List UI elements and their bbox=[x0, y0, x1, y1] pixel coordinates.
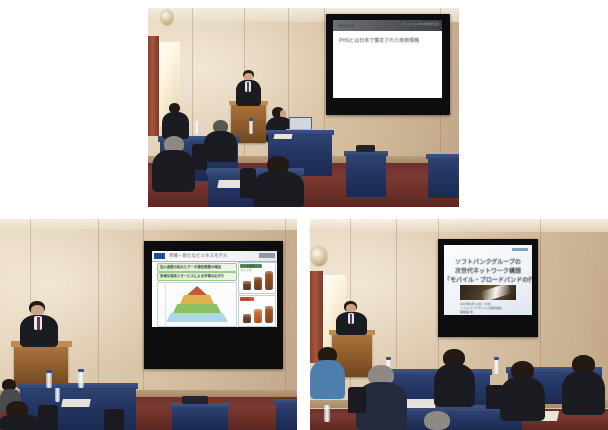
attendee-torso bbox=[500, 377, 545, 421]
cylinder-bar bbox=[254, 277, 262, 290]
room-scene-top: PHSとは ウィルコム PHS技術研究会 PHSとは日本で策定された技術規格 bbox=[148, 8, 459, 207]
slide-logo bbox=[154, 253, 165, 259]
water-bottle bbox=[494, 359, 499, 374]
pyramid-level-1 bbox=[187, 286, 207, 295]
podium bbox=[14, 345, 68, 387]
slide-photo-image bbox=[460, 285, 516, 300]
water-bottle bbox=[55, 388, 60, 402]
bottle-cap bbox=[386, 357, 391, 360]
slide-body-line: PHSとは日本で策定された技術規格 bbox=[339, 37, 419, 44]
cylinder-bar bbox=[254, 309, 262, 323]
slide-title-line-3: 「モバイル・ブロードバンドの行方」 bbox=[444, 275, 532, 284]
slide-corner-tag bbox=[259, 253, 275, 258]
handout-paper bbox=[273, 134, 292, 139]
photo-collage: PHSとは ウィルコム PHS技術研究会 PHSとは日本で策定された技術規格 bbox=[0, 0, 608, 430]
bottle-cap bbox=[494, 357, 499, 360]
slide-bullet-text: 加入者数の拡大とデータ通信需要の増加 bbox=[160, 264, 221, 269]
slide-bullet-text: 多様な端末とサービスによる市場の広がり bbox=[160, 273, 224, 278]
projector-table-skirt bbox=[346, 155, 386, 197]
slide-title-line-1: ソフトバンクグループの bbox=[444, 257, 532, 266]
speaker-at-podium bbox=[336, 301, 370, 335]
attendee bbox=[253, 156, 305, 207]
chair-back bbox=[240, 168, 256, 198]
attendee bbox=[434, 349, 476, 407]
bottom-left-photo-speaker-with-pyramid-slide: 市場・新たなビジネスモデル 加入者数の拡大とデータ通信需要の増加 多様な端末とサ… bbox=[0, 219, 297, 430]
speaker-at-podium bbox=[232, 70, 264, 106]
bottle-cap bbox=[78, 369, 84, 372]
slide-title-line-2: 次世代ネットワーク構想 bbox=[444, 266, 532, 275]
attendee bbox=[310, 347, 346, 399]
cylinder-chart-upper: データ通信トラフィック bbox=[238, 262, 276, 294]
cylinder-bar bbox=[243, 281, 251, 290]
attendee bbox=[414, 411, 462, 430]
slide-photo-streak bbox=[481, 283, 511, 302]
room-scene-bottom-right: ソフトバンクグループの 次世代ネットワーク構想 「モバイル・ブロードバンドの行方… bbox=[310, 219, 608, 430]
slide-brand-mark bbox=[512, 248, 528, 251]
projection-screen-surface: ソフトバンクグループの 次世代ネットワーク構想 「モバイル・ブロードバンドの行方… bbox=[444, 245, 532, 315]
slide-header-label: PHSとは bbox=[338, 23, 354, 29]
curtain bbox=[148, 36, 159, 136]
side-table-skirt bbox=[276, 403, 297, 430]
projection-screen-surface: PHSとは ウィルコム PHS技術研究会 PHSとは日本で策定された技術規格 bbox=[333, 20, 442, 98]
pyramid-level-3 bbox=[173, 304, 221, 313]
bottom-right-photo-title-slide-and-audience: ソフトバンクグループの 次世代ネットワーク構想 「モバイル・ブロードバンドの行方… bbox=[310, 219, 608, 430]
projector-table-skirt bbox=[172, 407, 228, 430]
attendee bbox=[162, 103, 190, 139]
cylinder-bar bbox=[265, 306, 273, 323]
water-bottle bbox=[324, 405, 330, 422]
chair-back bbox=[38, 405, 58, 430]
attendee-torso bbox=[253, 171, 304, 207]
water-bottle bbox=[195, 121, 199, 134]
slide-footer-line-3: 取締役 他 bbox=[460, 310, 473, 314]
cylinder-chart-upper-heading: データ通信トラフィック bbox=[240, 264, 262, 268]
slide-softbank-next-generation-network: ソフトバンクグループの 次世代ネットワーク構想 「モバイル・ブロードバンドの行方… bbox=[444, 245, 532, 315]
speaker-tie bbox=[37, 317, 40, 330]
bottle-cap bbox=[249, 118, 253, 121]
wall-clock bbox=[161, 10, 173, 25]
pyramid-level-4 bbox=[166, 313, 228, 322]
attendee-torso bbox=[562, 371, 605, 415]
projector bbox=[182, 396, 208, 404]
slide-header-title: 市場・新たなビジネスモデル bbox=[169, 253, 228, 259]
speaker-at-podium bbox=[18, 301, 62, 347]
attendee-torso bbox=[0, 414, 39, 430]
side-table-skirt bbox=[428, 158, 459, 198]
attendee-torso bbox=[162, 112, 189, 139]
attendee-torso bbox=[310, 360, 345, 399]
cylinder-chart-lower-heading: 加入者 bbox=[240, 297, 254, 301]
attendee-head bbox=[424, 411, 450, 430]
water-bottle bbox=[46, 372, 52, 388]
attendee-torso bbox=[152, 150, 195, 192]
handout-paper bbox=[405, 399, 437, 408]
cylinder-chart-lower: 加入者 bbox=[238, 295, 276, 327]
pyramid-level-2 bbox=[180, 295, 214, 304]
attendee-torso bbox=[434, 364, 475, 407]
pyramid-axis bbox=[158, 283, 166, 326]
chair-back bbox=[104, 409, 124, 430]
slide-phs-standard: PHSとは ウィルコム PHS技術研究会 PHSとは日本で策定された技術規格 bbox=[333, 20, 442, 98]
slide-market-growth-pyramid: 市場・新たなビジネスモデル 加入者数の拡大とデータ通信需要の増加 多様な端末とサ… bbox=[152, 251, 277, 327]
wall-clock bbox=[311, 247, 327, 266]
chair-back bbox=[348, 387, 366, 413]
attendee bbox=[204, 120, 238, 162]
cylinder-bar bbox=[243, 314, 251, 323]
chair-back bbox=[486, 385, 504, 409]
bottle-cap bbox=[46, 370, 52, 373]
projection-screen-surface: 市場・新たなビジネスモデル 加入者数の拡大とデータ通信需要の増加 多様な端末とサ… bbox=[152, 251, 277, 327]
slide-corner-brand: ウィルコム PHS技術研究会 bbox=[402, 22, 439, 26]
projection-screen-frame: PHSとは ウィルコム PHS技術研究会 PHSとは日本で策定された技術規格 bbox=[326, 14, 450, 115]
chair-back bbox=[192, 144, 207, 170]
attendee bbox=[152, 136, 196, 192]
top-photo-presentation-room-wide: PHSとは ウィルコム PHS技術研究会 PHSとは日本で策定された技術規格 bbox=[148, 8, 459, 207]
pyramid-panel bbox=[157, 282, 237, 327]
attendee-torso bbox=[204, 131, 237, 162]
water-bottle bbox=[249, 120, 253, 134]
attendee bbox=[0, 401, 40, 430]
attendee bbox=[500, 361, 546, 421]
projector bbox=[356, 145, 375, 152]
attendee bbox=[562, 355, 606, 415]
speaker-tie bbox=[350, 314, 352, 324]
water-bottle bbox=[78, 371, 84, 388]
handout-paper bbox=[61, 399, 91, 407]
projection-screen-frame: ソフトバンクグループの 次世代ネットワーク構想 「モバイル・ブロードバンドの行方… bbox=[438, 239, 538, 337]
room-scene-bottom-left: 市場・新たなビジネスモデル 加入者数の拡大とデータ通信需要の増加 多様な端末とサ… bbox=[0, 219, 297, 430]
projection-screen-frame: 市場・新たなビジネスモデル 加入者数の拡大とデータ通信需要の増加 多様な端末とサ… bbox=[144, 241, 283, 369]
cylinder-bar bbox=[265, 271, 273, 290]
speaker-tie bbox=[247, 82, 249, 92]
